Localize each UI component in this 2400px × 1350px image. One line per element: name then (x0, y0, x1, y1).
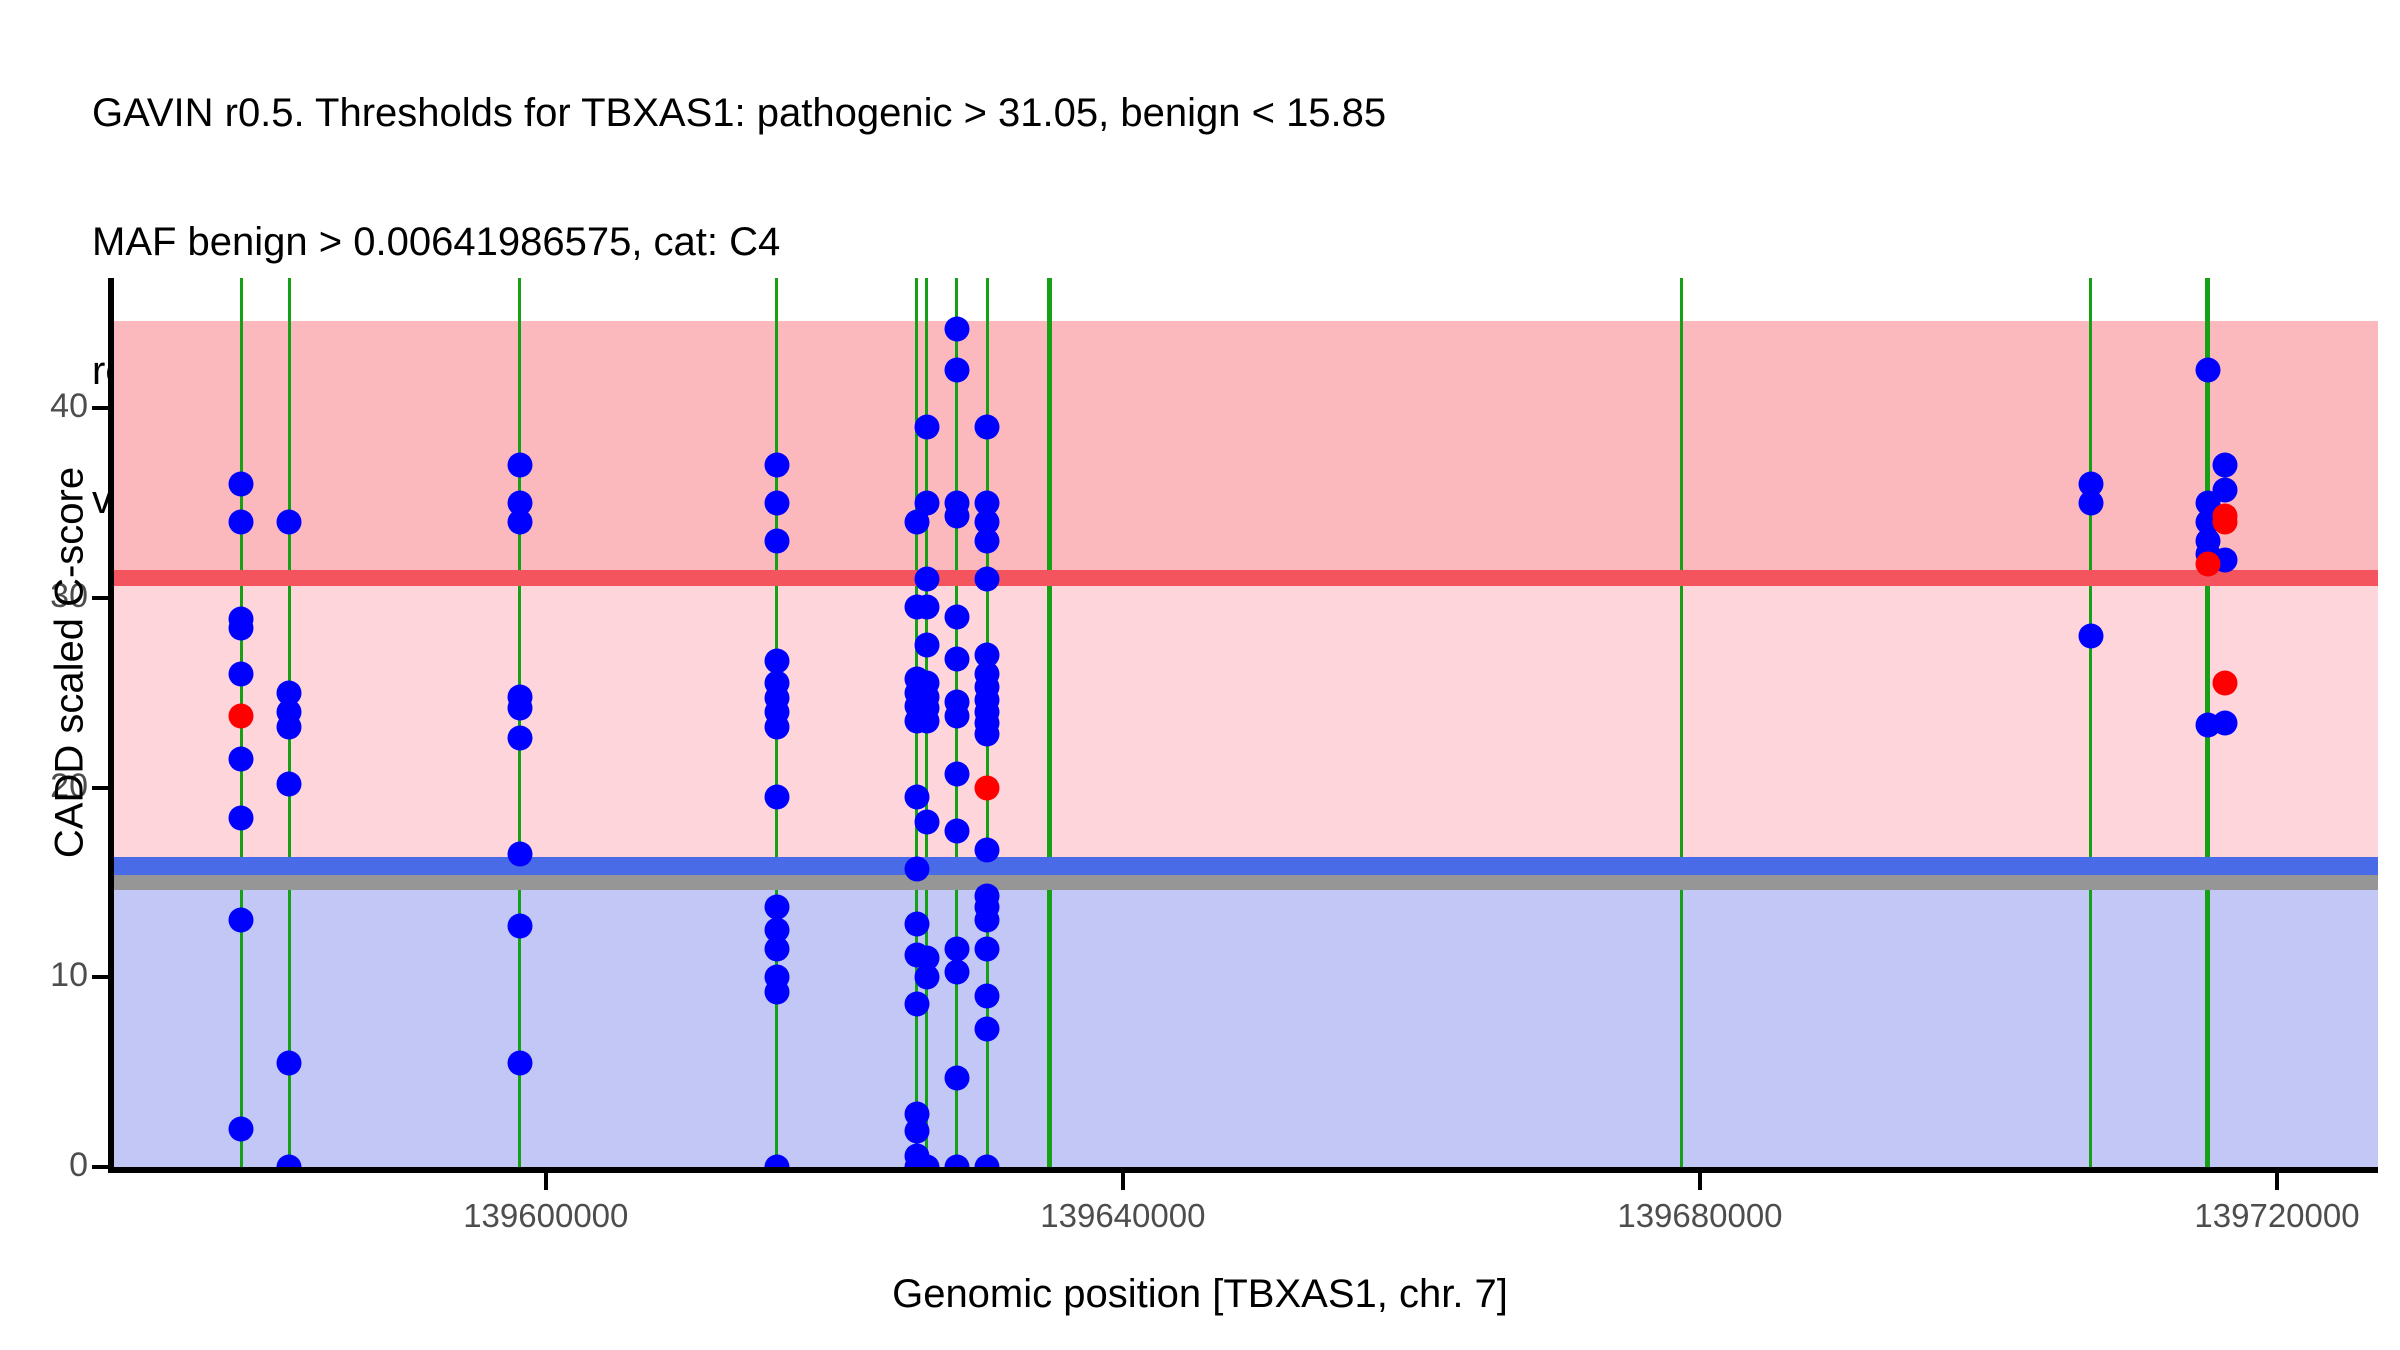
gnomad-variant-point (975, 936, 1000, 961)
gnomad-variant-point (507, 841, 532, 866)
gnomad-variant-point (944, 762, 969, 787)
genome-wide-fallback (113, 875, 2378, 890)
gnomad-variant-point (764, 491, 789, 516)
title-line-2: MAF benign > 0.00641986575, cat: C4 (92, 221, 2372, 264)
gnomad-variant-point (2213, 711, 2238, 736)
title-line-1: GAVIN r0.5. Thresholds for TBXAS1: patho… (92, 92, 2372, 135)
gnomad-variant-point (229, 1117, 254, 1142)
gnomad-variant-point (2078, 491, 2103, 516)
gnomad-variant-point (904, 912, 929, 937)
gnomad-variant-point (975, 908, 1000, 933)
gnomad-variant-point (507, 695, 532, 720)
gnomad-variant-point (507, 726, 532, 751)
x-tick-mark (1698, 1173, 1702, 1190)
exon-11 (2089, 278, 2092, 1167)
gnomad-variant-point (764, 648, 789, 673)
gnomad-variant-point (229, 510, 254, 535)
gnomad-variant-point (975, 415, 1000, 440)
gnomad-variant-point (975, 566, 1000, 591)
gnomad-variant-point (277, 1050, 302, 1075)
gnomad-variant-point (914, 491, 939, 516)
gnomad-variant-point (975, 722, 1000, 747)
y-tick-label: 0 (0, 1146, 88, 1185)
gnomad-variant-point (944, 819, 969, 844)
gnomad-variant-point (764, 714, 789, 739)
gnomad-variant-point (904, 857, 929, 882)
y-tick-mark (92, 406, 110, 410)
gnomad-variant-point (904, 991, 929, 1016)
x-tick-mark (2275, 1173, 2279, 1190)
gnomad-variant-point (975, 838, 1000, 863)
y-tick-mark (92, 596, 110, 600)
gnomad-variant-point (914, 595, 939, 620)
exon-9 (1047, 278, 1052, 1167)
x-tick-label: 139600000 (396, 1197, 696, 1235)
gnomad-variant-point (2078, 623, 2103, 648)
gnomad-variant-point (507, 914, 532, 939)
clinvar-pathogenic-point (229, 703, 254, 728)
gnomad-variant-point (914, 566, 939, 591)
x-tick-label: 139640000 (973, 1197, 1273, 1235)
y-tick-mark (92, 1165, 110, 1169)
x-tick-label: 139720000 (2127, 1197, 2400, 1235)
gnomad-variant-point (764, 528, 789, 553)
gnomad-variant-point (507, 510, 532, 535)
gnomad-variant-point (975, 528, 1000, 553)
gnomad-variant-point (229, 616, 254, 641)
gnomad-variant-point (764, 936, 789, 961)
gnomad-variant-point (914, 809, 939, 834)
gnomad-variant-point (277, 771, 302, 796)
gnomad-variant-point (764, 895, 789, 920)
gnomad-variant-point (944, 646, 969, 671)
gnomad-variant-point (2213, 477, 2238, 502)
gnomad-variant-point (507, 453, 532, 478)
x-tick-mark (544, 1173, 548, 1190)
gnomad-variant-point (229, 908, 254, 933)
gnomad-variant-point (2195, 358, 2220, 383)
clinvar-pathogenic-point (975, 775, 1000, 800)
gnomad-variant-point (904, 785, 929, 810)
gnomad-variant-point (229, 747, 254, 772)
gnomad-variant-point (944, 936, 969, 961)
gnomad-variant-point (2213, 453, 2238, 478)
clinvar-pathogenic-point (2213, 510, 2238, 535)
gnomad-variant-point (904, 1118, 929, 1143)
pathogenic-threshold (113, 570, 2378, 585)
vous-region (113, 578, 2378, 857)
gnomad-variant-point (944, 316, 969, 341)
plot-root: GAVIN r0.5. Thresholds for TBXAS1: patho… (0, 0, 2400, 1350)
gnomad-variant-point (975, 984, 1000, 1009)
gnomad-variant-point (975, 1016, 1000, 1041)
pathogenic-region (113, 321, 2378, 570)
gnomad-variant-point (944, 358, 969, 383)
exon-10 (1680, 278, 1683, 1167)
y-tick-mark (92, 786, 110, 790)
gnomad-variant-point (944, 959, 969, 984)
gnomad-variant-point (764, 785, 789, 810)
clinvar-pathogenic-point (2195, 551, 2220, 576)
gnomad-variant-point (764, 980, 789, 1005)
gnomad-variant-point (229, 661, 254, 686)
gnomad-variant-point (914, 965, 939, 990)
gnomad-variant-point (229, 805, 254, 830)
benign-region (113, 890, 2378, 1167)
y-axis-title: CADD scaled C-score (48, 263, 93, 1063)
gnomad-variant-point (944, 504, 969, 529)
x-tick-mark (1121, 1173, 1125, 1190)
gnomad-variant-point (764, 453, 789, 478)
gnomad-variant-point (507, 1050, 532, 1075)
gnomad-variant-point (277, 714, 302, 739)
gnomad-variant-point (944, 1065, 969, 1090)
gnomad-variant-point (914, 633, 939, 658)
y-axis-line (108, 278, 114, 1173)
y-tick-mark (92, 975, 110, 979)
exon-3 (518, 278, 521, 1167)
gnomad-variant-point (914, 709, 939, 734)
x-axis-title: Genomic position [TBXAS1, chr. 7] (0, 1272, 2400, 1317)
x-tick-label: 139680000 (1550, 1197, 1850, 1235)
gnomad-variant-point (914, 415, 939, 440)
gnomad-variant-point (229, 472, 254, 497)
benign-threshold (113, 857, 2378, 875)
gnomad-variant-point (944, 703, 969, 728)
gnomad-variant-point (944, 604, 969, 629)
chart-panel (113, 278, 2378, 1167)
gnomad-variant-point (277, 510, 302, 535)
clinvar-pathogenic-point (2213, 671, 2238, 696)
x-axis-line (108, 1167, 2378, 1173)
